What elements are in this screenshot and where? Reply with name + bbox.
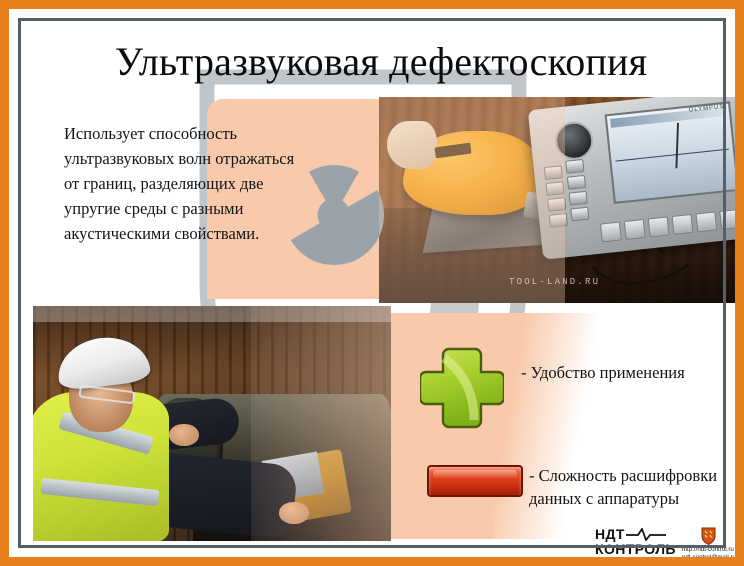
logo-kontrol-text: КОНТРОЛЬ: [595, 542, 676, 556]
device-screen: [605, 101, 740, 204]
shield-crest-icon: [701, 527, 716, 545]
photo-ultrasonic-probe: OLYMPUS TOOL-LAND.RU: [379, 97, 741, 303]
photo-watermark-caption: TOOL-LAND.RU: [509, 277, 600, 287]
logo-top-row: НДТ: [595, 527, 676, 541]
photo-technician-inspection: [33, 306, 391, 541]
footer-logo: НДТ КОНТРОЛЬ http://ndt-control.ru ndt-c…: [595, 527, 741, 563]
logo-right-group: http://ndt-control.ru ndt-control@mail.r…: [682, 527, 736, 563]
contact-info: http://ndt-control.ru ndt-control@mail.r…: [682, 546, 736, 563]
technician-hand-upper: [169, 424, 199, 446]
technician-hand-lower: [279, 502, 309, 524]
bullet-drawback: - Сложность расшифровки данных с аппарат…: [529, 464, 719, 510]
device-function-keys: [600, 208, 741, 241]
description-text: Использует способность ультразвуковых во…: [64, 121, 304, 246]
slide-frame: OLYMPUS TOOL-LAND.RU: [0, 0, 744, 566]
page-title: Ультразвуковая дефектоскопия: [21, 39, 741, 85]
plus-icon: [420, 346, 504, 430]
minus-icon: [427, 465, 523, 497]
waveform-icon: [626, 528, 666, 541]
contact-email[interactable]: ndt-control@mail.ru: [682, 554, 736, 562]
flaw-detector-device: OLYMPUS: [528, 97, 741, 260]
logo-ndt-text: НДТ: [595, 527, 625, 541]
bullet-advantage: - Удобство применения: [521, 361, 731, 384]
contact-phone: +7(343) 200-50-22: [682, 562, 736, 563]
logo-wordmark: НДТ КОНТРОЛЬ: [595, 527, 676, 556]
device-knob: [553, 120, 595, 162]
a-scan-trace: [615, 148, 728, 161]
contact-website[interactable]: http://ndt-control.ru: [682, 546, 736, 554]
a-scan-peak: [675, 123, 679, 168]
slide-canvas: OLYMPUS TOOL-LAND.RU: [21, 21, 741, 563]
